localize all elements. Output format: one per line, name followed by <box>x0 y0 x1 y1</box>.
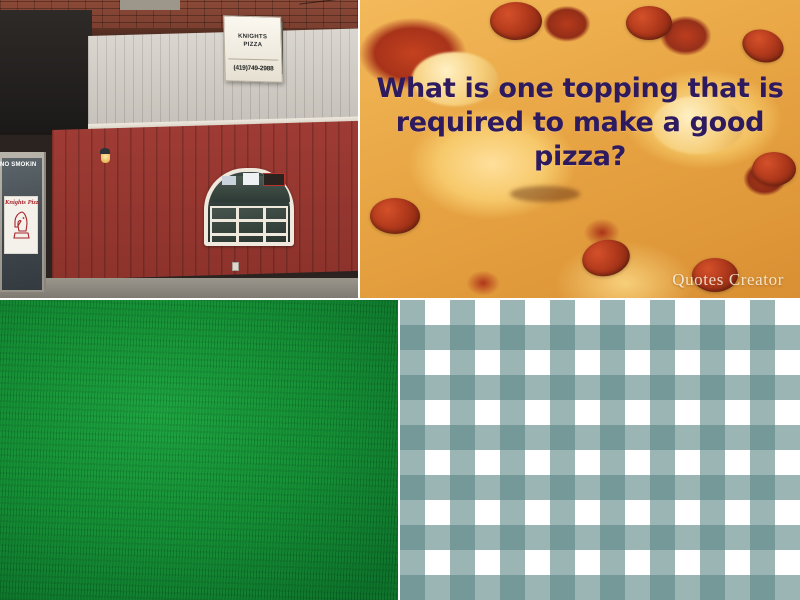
pepperoni-slice-icon <box>626 6 672 40</box>
roof-vent <box>120 0 180 10</box>
sign-phone-number: (419)749-2988 <box>225 64 281 72</box>
checkered-specials-panel: Sunday Lunch Special Smoked Sausage, Mac… <box>400 300 800 600</box>
window-placard-3 <box>263 173 285 186</box>
quote-text: What is one topping that is required to … <box>368 72 792 174</box>
quotes-creator-watermark: Quotes Creator <box>672 270 784 290</box>
green-specials-panel: Sunday Lunch Special Meatloaf, Mashed Po… <box>0 300 398 600</box>
building-soffit <box>0 10 92 135</box>
door-logo-text: Knights Pizza <box>5 199 39 206</box>
pepperoni-slice-icon <box>490 2 542 40</box>
pizza-quote-panel: What is one topping that is required to … <box>360 0 800 298</box>
concrete-foundation <box>0 278 358 298</box>
storefront-photo-panel: NO SMOKING Knights Pizza KNIGHTS PIZZA (… <box>0 0 358 298</box>
door-logo-sign: Knights Pizza <box>4 196 38 254</box>
pepperoni-slice-icon <box>738 24 788 67</box>
crust-char-mark <box>510 186 580 202</box>
sign-business-name: KNIGHTS PIZZA <box>225 32 281 49</box>
knight-chess-piece-icon <box>12 209 32 241</box>
exterior-lamp-icon <box>100 148 110 164</box>
window-placard-1 <box>222 176 236 185</box>
knights-pizza-hanging-sign: KNIGHTS PIZZA (419)749-2988 <box>223 15 283 82</box>
wall-outlet <box>232 262 239 271</box>
specials-collage: NO SMOKING Knights Pizza KNIGHTS PIZZA (… <box>0 0 800 600</box>
pepperoni-slice-icon <box>370 198 420 234</box>
no-smoking-sign: NO SMOKING <box>0 160 36 170</box>
window-placard-2 <box>243 173 259 185</box>
pepperoni-slice-icon <box>579 235 633 280</box>
